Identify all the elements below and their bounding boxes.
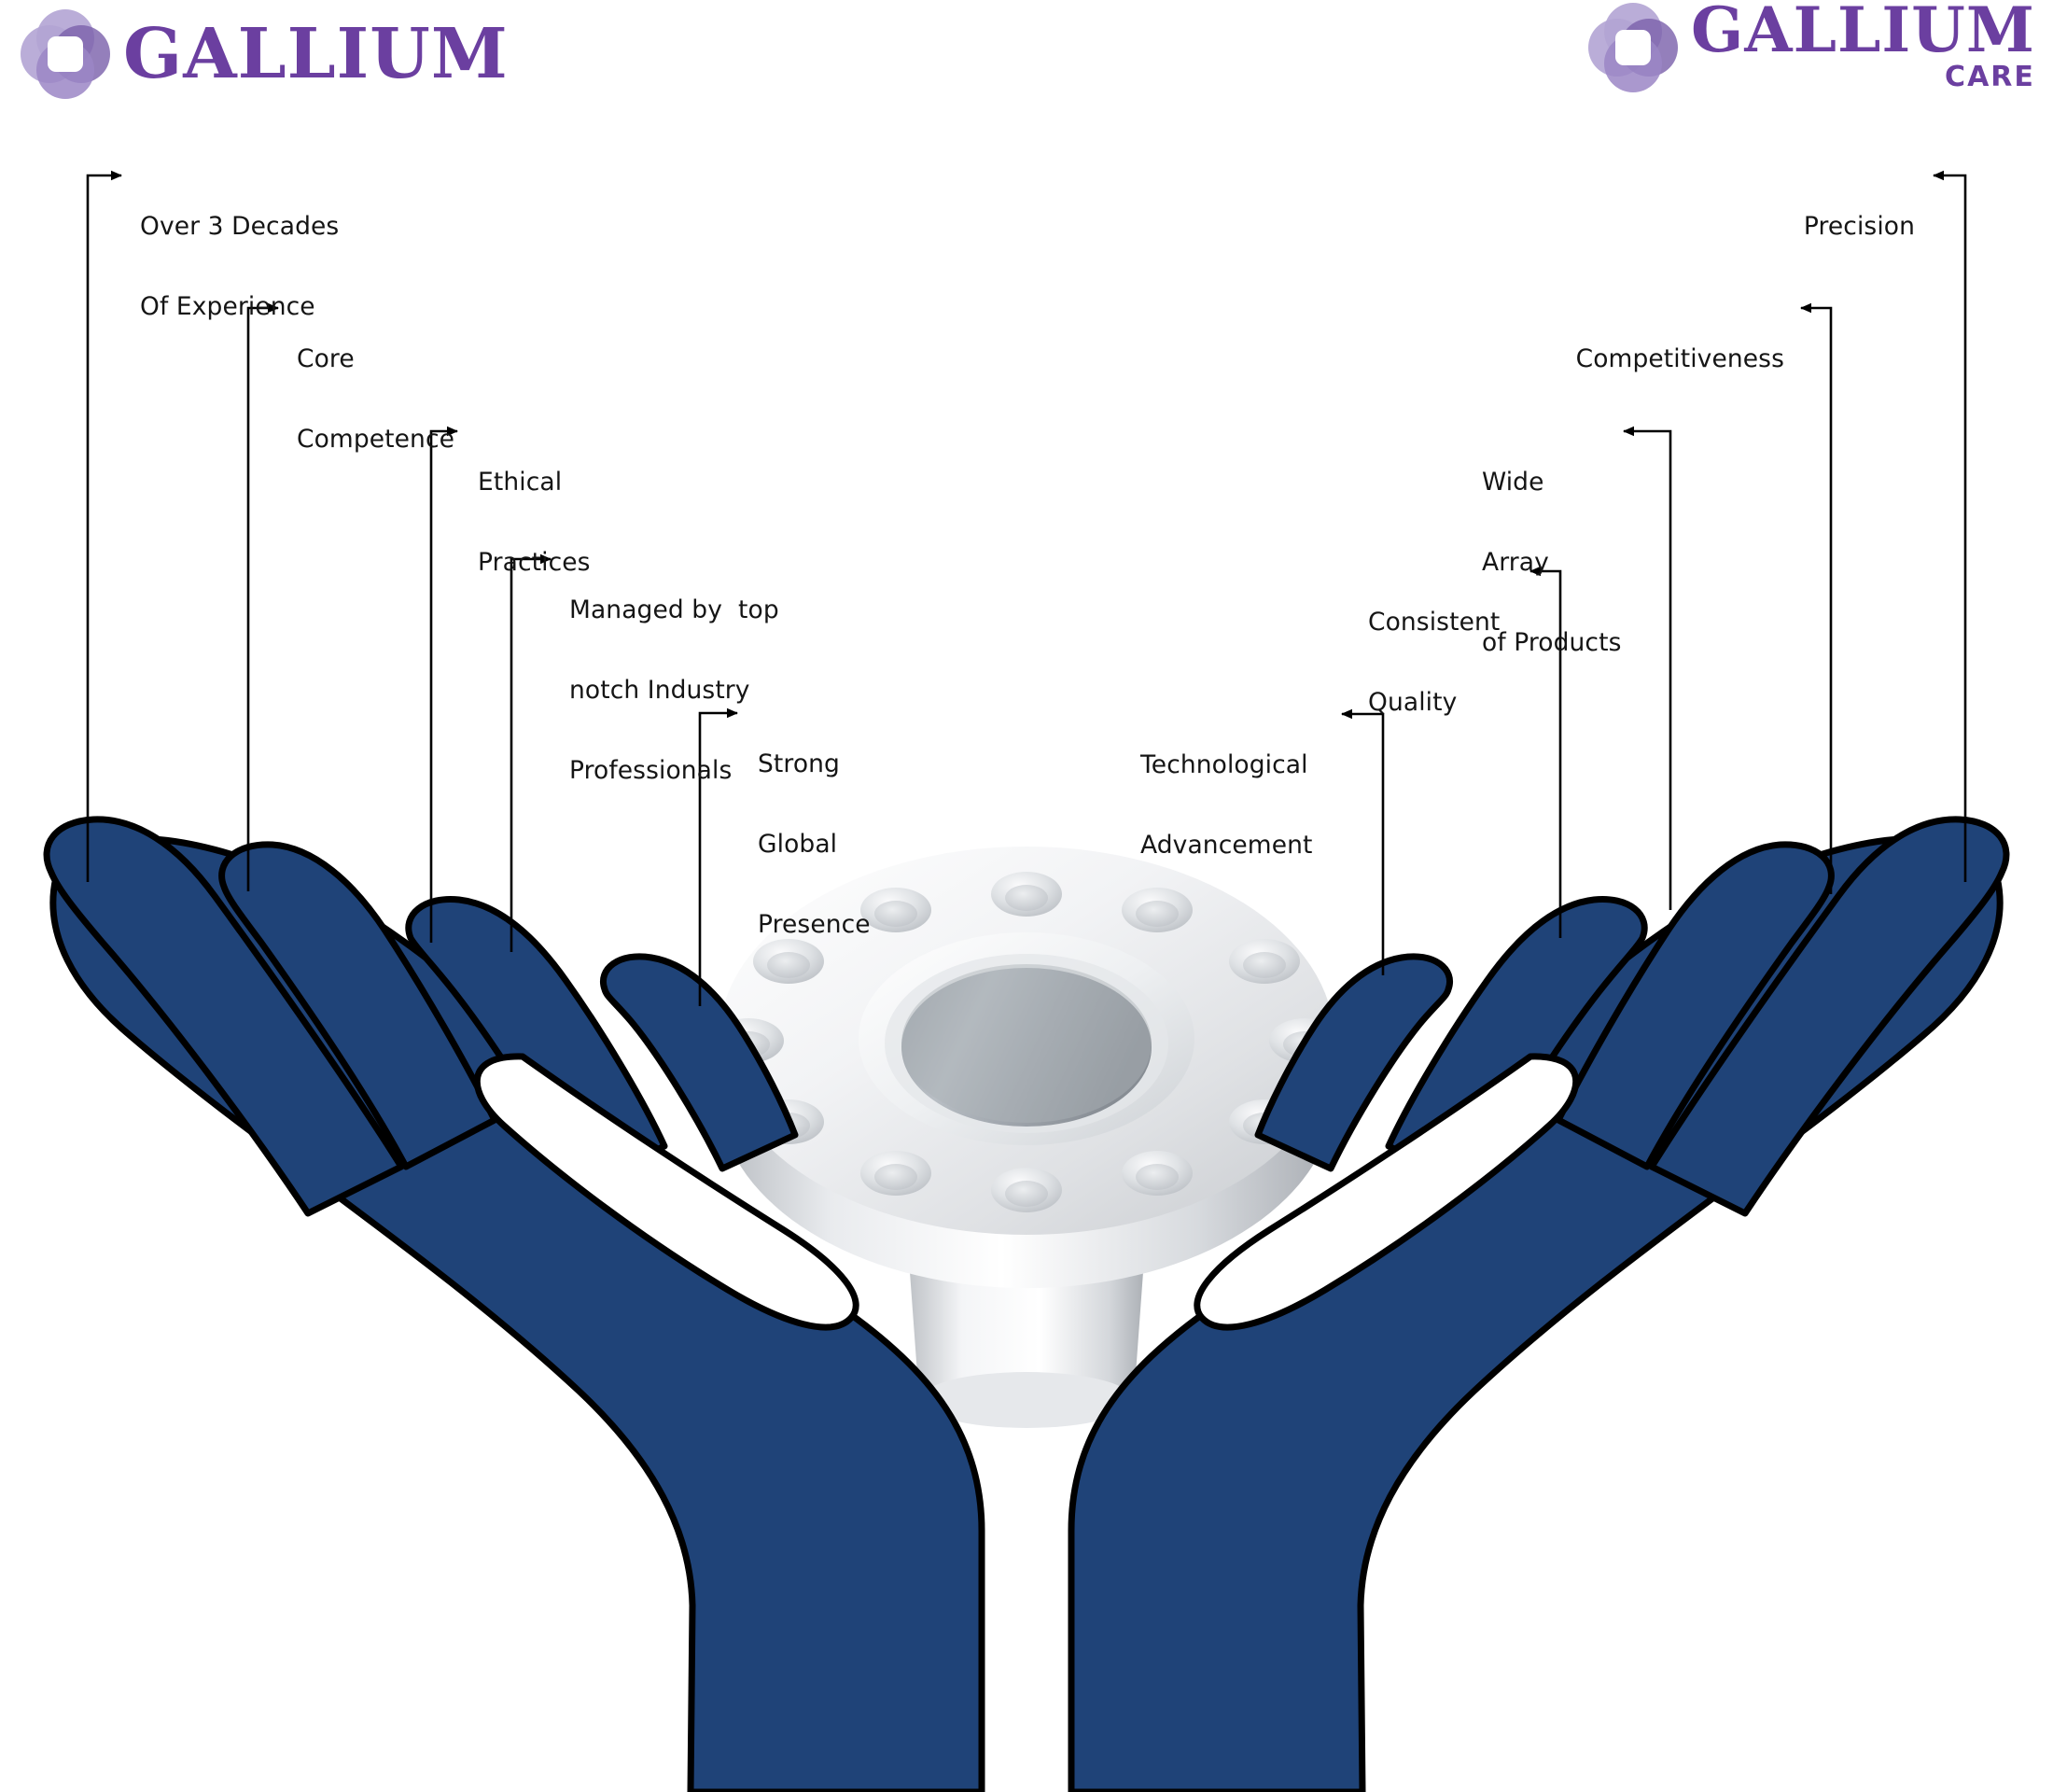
callout-line: Precision [1804,214,1915,241]
callout-line: Competitiveness [1576,346,1784,373]
callout-competitiveness: Competitiveness [1576,293,1784,427]
callout-core-competence: Core Competence [297,293,454,507]
infographic-canvas: GALLIUM GALLIUM CARE Over 3 Decades Of E… [0,0,2053,1792]
callout-line: Quality [1368,690,1500,717]
callout-line: Professionals [569,758,779,785]
callout-line: Presence [758,912,871,939]
callout-line: Ethical [478,469,591,497]
logo-right-wordmark: GALLIUM [1691,2,2035,59]
callout-technological-advancement: Technological Advancement [1140,699,1312,913]
callout-line: Managed by top [569,597,779,624]
logo-gallium-left[interactable]: GALLIUM [21,9,509,99]
callout-line: Technological [1140,752,1312,779]
logo-left-wordmark: GALLIUM [123,22,509,86]
callout-line: Global [758,832,871,859]
callout-line: of Products [1482,630,1622,657]
callout-strong-global-presence: Strong Global Presence [758,698,871,992]
callout-line: Strong [758,751,871,778]
callout-consistent-quality: Consistent Quality [1368,556,1500,770]
callout-line: Core [297,346,454,373]
callout-line: notch Industry [569,678,779,705]
callout-managed-by-top-notch-industry-professionals: Managed by top notch Industry Profession… [569,544,779,838]
gallium-flower-mark-icon [21,9,110,99]
callout-line: Wide [1482,469,1622,497]
callout-line: Competence [297,427,454,454]
flange-bore-inner [901,964,1152,1123]
callout-wide-array-of-products: Wide Array of Products [1482,416,1622,710]
gallium-flower-mark-icon [1588,3,1678,92]
callout-line: Over 3 Decades [140,214,339,241]
callout-line: Array [1482,550,1622,577]
callout-line: Advancement [1140,833,1312,860]
logo-gallium-care-right[interactable]: GALLIUM CARE [1588,2,2035,93]
callout-line: Consistent [1368,609,1500,637]
callout-precision: Precision [1804,161,1915,294]
